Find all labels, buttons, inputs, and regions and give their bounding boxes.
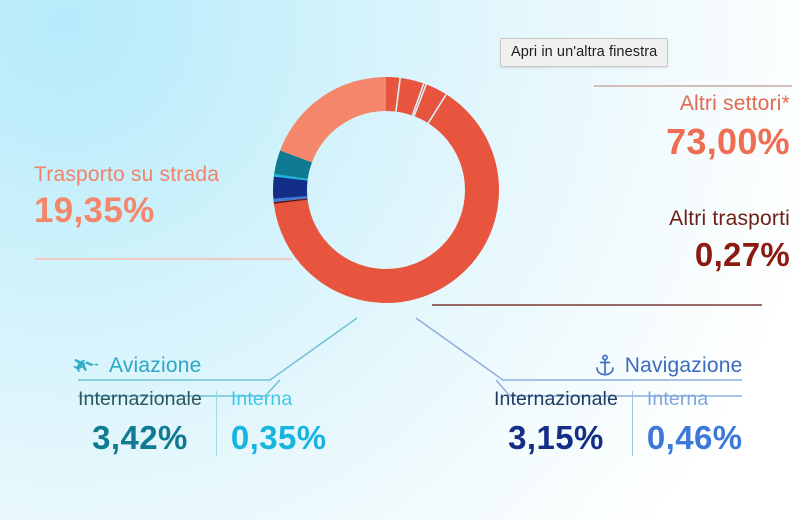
group-aviazione-values: Internazionale 3,42% Interna 0,35% xyxy=(72,389,326,456)
group-navigazione-header: Navigazione xyxy=(494,352,742,379)
aviazione-internazionale-label: Internazionale xyxy=(78,389,202,410)
navigazione-interna-label: Interna xyxy=(647,389,743,410)
group-aviazione-header: Aviazione xyxy=(72,352,326,379)
aviazione-interna[interactable]: Interna 0,35% xyxy=(231,389,327,456)
callout-altri-trasporti-value: 0,27% xyxy=(600,238,790,273)
callout-altri-settori-label: Altri settori* xyxy=(612,92,790,115)
callout-trasporto-su-strada[interactable]: Trasporto su strada 19,35% xyxy=(34,163,334,230)
callout-altri-trasporti-label: Altri trasporti xyxy=(600,207,790,230)
aviazione-divider xyxy=(216,391,217,456)
navigazione-internazionale-value: 3,15% xyxy=(508,421,604,456)
group-aviazione[interactable]: Aviazione Internazionale 3,42% Interna 0… xyxy=(72,352,326,456)
tooltip-open-in-new-window[interactable]: Apri in un'altra finestra xyxy=(500,38,668,67)
aviazione-interna-value: 0,35% xyxy=(231,421,327,456)
group-navigazione-values: Internazionale 3,15% Interna 0,46% xyxy=(494,389,742,456)
airplane-icon xyxy=(72,352,101,379)
callout-altri-settori[interactable]: Altri settori* 73,00% xyxy=(612,92,790,161)
navigazione-divider xyxy=(632,391,633,456)
navigazione-internazionale-label: Internazionale xyxy=(494,389,618,410)
callout-altri-trasporti[interactable]: Altri trasporti 0,27% xyxy=(600,207,790,273)
callout-altri-settori-value: 73,00% xyxy=(612,123,790,161)
callout-trasporto-su-strada-label: Trasporto su strada xyxy=(34,163,334,186)
aviazione-internazionale[interactable]: Internazionale 3,42% xyxy=(78,389,202,456)
aviazione-internazionale-value: 3,42% xyxy=(92,421,188,456)
aviazione-interna-label: Interna xyxy=(231,389,327,410)
callout-trasporto-su-strada-value: 19,35% xyxy=(34,193,334,230)
infographic-canvas: Apri in un'altra finestra Altri settori*… xyxy=(0,0,800,520)
navigazione-internazionale[interactable]: Internazionale 3,15% xyxy=(494,389,618,456)
navigazione-interna[interactable]: Interna 0,46% xyxy=(647,389,743,456)
navigazione-interna-value: 0,46% xyxy=(647,421,743,456)
anchor-icon xyxy=(593,352,617,379)
group-navigazione[interactable]: Navigazione Internazionale 3,15% Interna… xyxy=(494,352,742,456)
group-aviazione-title: Aviazione xyxy=(109,354,201,378)
group-navigazione-title: Navigazione xyxy=(625,354,743,378)
